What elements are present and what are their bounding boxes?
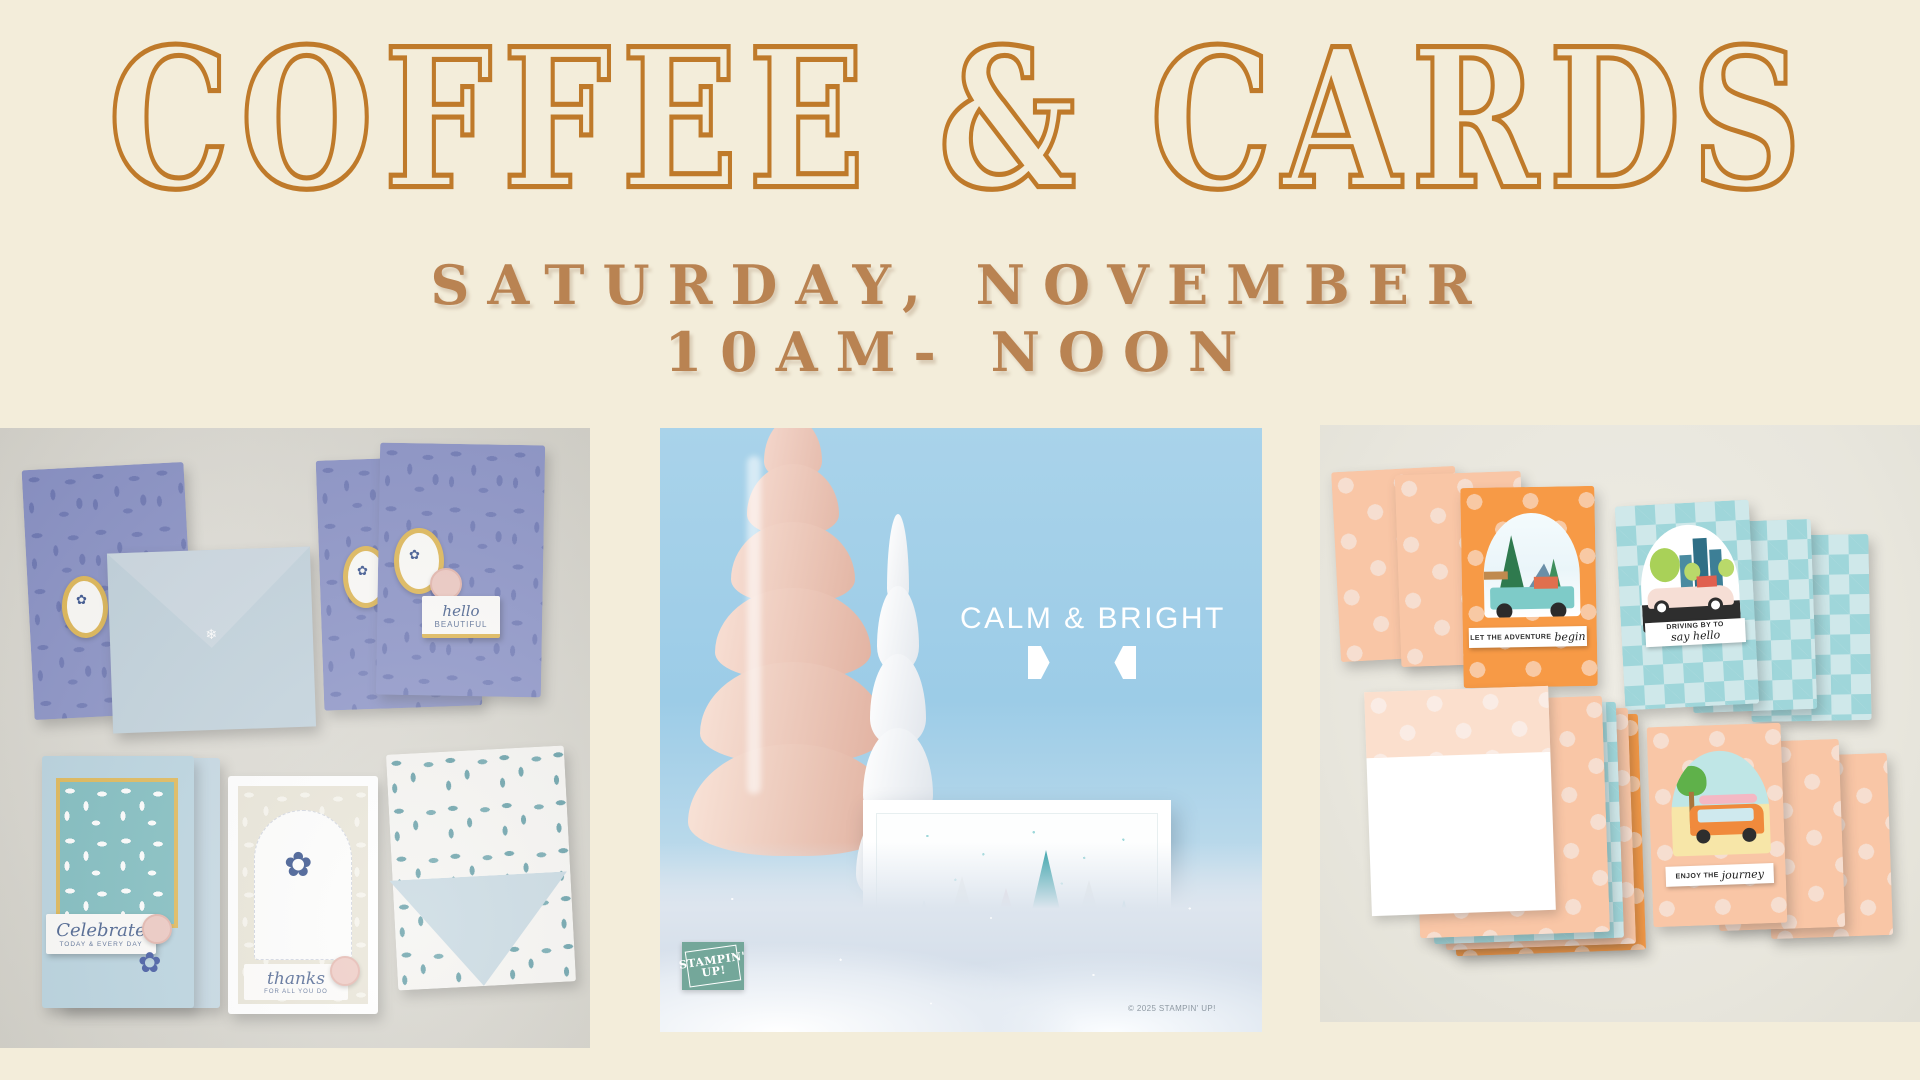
- card-journey-arch: [1669, 749, 1771, 856]
- button-embellishment: [142, 914, 172, 944]
- sprig-icon: ✿: [76, 593, 87, 606]
- sentiment-tag-journey: ENJOY THE journey: [1665, 863, 1774, 887]
- snowdrop-flower-icon: ✿: [284, 848, 313, 882]
- truck-wheel-icon: [1550, 602, 1566, 617]
- van-wheel-icon: [1696, 829, 1710, 843]
- truck-cargo-icon: [1534, 576, 1558, 588]
- envelope-seal-icon: ❄: [205, 626, 217, 643]
- sentiment-tag-hello-beautiful: hello BEAUTIFUL: [422, 596, 500, 638]
- kit-badge-banner: KIT: [1028, 646, 1136, 679]
- leaf-embellishment-icon: ✿: [138, 946, 161, 979]
- header-banner: COFFEE & CARDS SATURDAY, NOVEMBER 10AM- …: [0, 0, 1920, 345]
- sentiment-script-text: hello: [442, 602, 479, 620]
- envelope-flap: [389, 871, 573, 990]
- stampin-up-logo-text: STAMPIN' UP!: [685, 944, 742, 987]
- sentiment-tag-say-hello: DRIVING BY TO say hello: [1645, 618, 1746, 647]
- envelope-blue: ❄: [107, 547, 316, 734]
- sprig-icon: ✿: [409, 548, 420, 561]
- card-blue-floral-back-left: [22, 462, 197, 720]
- sentiment-tag-thanks: thanks FOR ALL YOU DO: [244, 964, 348, 1000]
- van-wheel-icon: [1742, 828, 1756, 842]
- card-celebrate-panel: [56, 778, 178, 928]
- paper-pattern-band: [1364, 686, 1550, 758]
- truck-wheel-icon: [1496, 603, 1512, 617]
- card-hello-beautiful: [376, 443, 545, 698]
- button-embellishment: [430, 568, 462, 600]
- card-adventure-arch: [1483, 512, 1581, 618]
- sentiment-caps-text: FOR ALL YOU DO: [264, 989, 328, 995]
- sprig-icon: ✿: [357, 564, 368, 577]
- right-product-image: LET THE ADVENTURE begin DRIVING BY TO sa…: [1320, 425, 1920, 1022]
- page-title: COFFEE & CARDS: [0, 24, 1920, 216]
- card-thanks: ✿ thanks FOR ALL YOU DO: [228, 776, 378, 1014]
- card-thanks-panel: [238, 786, 368, 1004]
- card-stack-blue: [60, 758, 220, 1008]
- sentiment-caps-text: TODAY & EVERY DAY: [59, 941, 142, 948]
- copyright-text: © 2025 STAMPIN' UP!: [1128, 1004, 1216, 1013]
- kit-badge-label: KIT: [1061, 651, 1102, 674]
- card-adventure-front: LET THE ADVENTURE begin: [1460, 486, 1597, 688]
- van-window-icon: [1697, 808, 1753, 823]
- blank-card-stack: [1364, 686, 1556, 916]
- envelope-stack-teal: [386, 746, 576, 991]
- sentiment-tag-celebrate: Celebrate TODAY & EVERY DAY: [46, 914, 156, 954]
- sentiment-script-text: say hello: [1671, 628, 1721, 644]
- sentiment-caps-text: BEAUTIFUL: [434, 620, 487, 629]
- medallion-icon: [394, 528, 444, 594]
- sentiment-caps-text: ENJOY THE: [1675, 871, 1718, 880]
- sentiment-script-text: thanks: [267, 969, 325, 989]
- medallion-icon: [343, 546, 389, 608]
- kit-title: CALM & BRIGHT: [960, 602, 1226, 636]
- medallion-icon: [60, 575, 109, 639]
- card-celebrate: Celebrate TODAY & EVERY DAY ✿: [42, 756, 194, 1008]
- tree-icon: [1649, 547, 1681, 583]
- sentiment-tag-adventure: LET THE ADVENTURE begin: [1469, 626, 1587, 648]
- button-embellishment: [330, 956, 360, 986]
- card-thanks-arch: [254, 810, 352, 960]
- car-cargo-icon: [1697, 575, 1718, 587]
- sentiment-script-text: begin: [1554, 630, 1585, 644]
- sentiment-script-text: Celebrate: [56, 920, 146, 941]
- event-date-line: SATURDAY, NOVEMBER: [0, 253, 1920, 317]
- sentiment-script-text: journey: [1722, 867, 1765, 881]
- signpost-icon: [1484, 571, 1508, 579]
- center-product-image: CALM & BRIGHT KIT ALL IS CALM, ALL IS BR…: [660, 428, 1262, 1032]
- card-say-hello-arch: [1638, 522, 1741, 633]
- card-journey-front: ENJOY THE journey: [1647, 723, 1788, 928]
- event-time-line: 10AM- NOON: [0, 320, 1920, 384]
- stampin-up-logo: STAMPIN' UP!: [682, 942, 744, 990]
- left-product-image: ✿ ❄ ✿ ✿ hello BEAUTIFUL Celebrate TODAY …: [0, 428, 590, 1048]
- card-blue-floral-back-right: [316, 455, 483, 710]
- tree-icon: [1718, 558, 1735, 577]
- card-say-hello-front: DRIVING BY TO say hello: [1615, 500, 1759, 711]
- sentiment-caps-text: LET THE ADVENTURE: [1470, 633, 1551, 641]
